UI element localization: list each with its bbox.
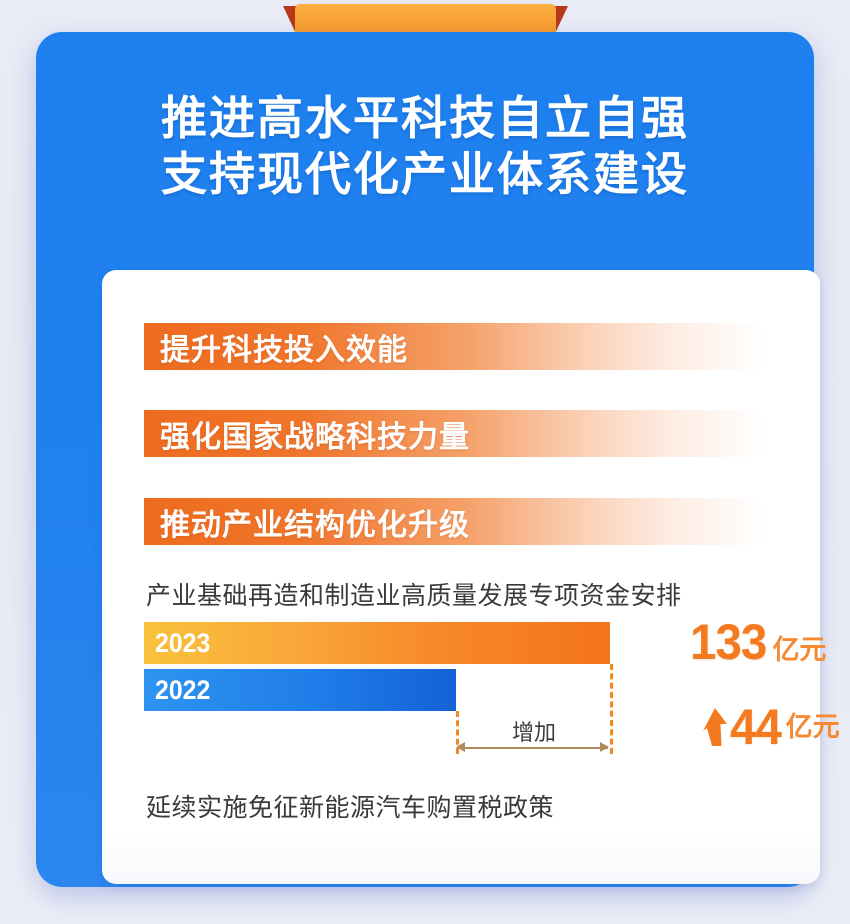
bar-2022: 2022: [144, 669, 456, 711]
content-card: 提升科技投入效能 强化国家战略科技力量 推动产业结构优化升级 产业基础再造和制造…: [102, 270, 820, 884]
bar-2023: 2023: [144, 622, 610, 664]
page-title: 推进高水平科技自立自强 支持现代化产业体系建设: [36, 90, 814, 202]
increase-measure-line: [460, 747, 608, 749]
measure-arrow-left-icon: [456, 742, 465, 752]
blue-panel: 推进高水平科技自立自强 支持现代化产业体系建设 提升科技投入效能 强化国家战略科…: [36, 32, 814, 887]
headline-line-1: 推进高水平科技自立自强: [36, 90, 814, 146]
bar-2022-year-label: 2022: [144, 675, 210, 706]
highlight-bar-2: 强化国家战略科技力量: [144, 410, 764, 457]
chart-caption: 产业基础再造和制造业高质量发展专项资金安排: [146, 576, 682, 612]
measure-arrow-right-icon: [600, 742, 609, 752]
increase-number: 44: [730, 702, 781, 752]
dashed-guide-2023: [610, 664, 613, 754]
increase-unit: 亿元: [786, 714, 840, 741]
highlight-bar-3: 推动产业结构优化升级: [144, 498, 764, 545]
bar-2023-year-label: 2023: [144, 628, 210, 659]
highlight-bar-1: 提升科技投入效能: [144, 323, 764, 370]
highlight-bar-3-label: 推动产业结构优化升级: [144, 500, 470, 544]
value-callout-increase: 44 亿元: [702, 702, 840, 752]
value-callout-2023: 133 亿元: [690, 617, 826, 667]
headline-line-2: 支持现代化产业体系建设: [36, 146, 814, 202]
value-2023-unit: 亿元: [772, 637, 826, 664]
highlight-bar-1-label: 提升科技投入效能: [144, 325, 408, 369]
highlight-bar-2-label: 强化国家战略科技力量: [144, 412, 470, 456]
up-arrow-icon: [702, 707, 728, 747]
bar-chart: 2023 2022 增加: [144, 622, 784, 752]
infographic-poster: 推进高水平科技自立自强 支持现代化产业体系建设 提升科技投入效能 强化国家战略科…: [0, 0, 850, 924]
footer-note: 延续实施免征新能源汽车购置税政策: [146, 788, 554, 824]
value-2023-number: 133: [690, 617, 766, 667]
increase-annotation-label: 增加: [460, 715, 608, 747]
